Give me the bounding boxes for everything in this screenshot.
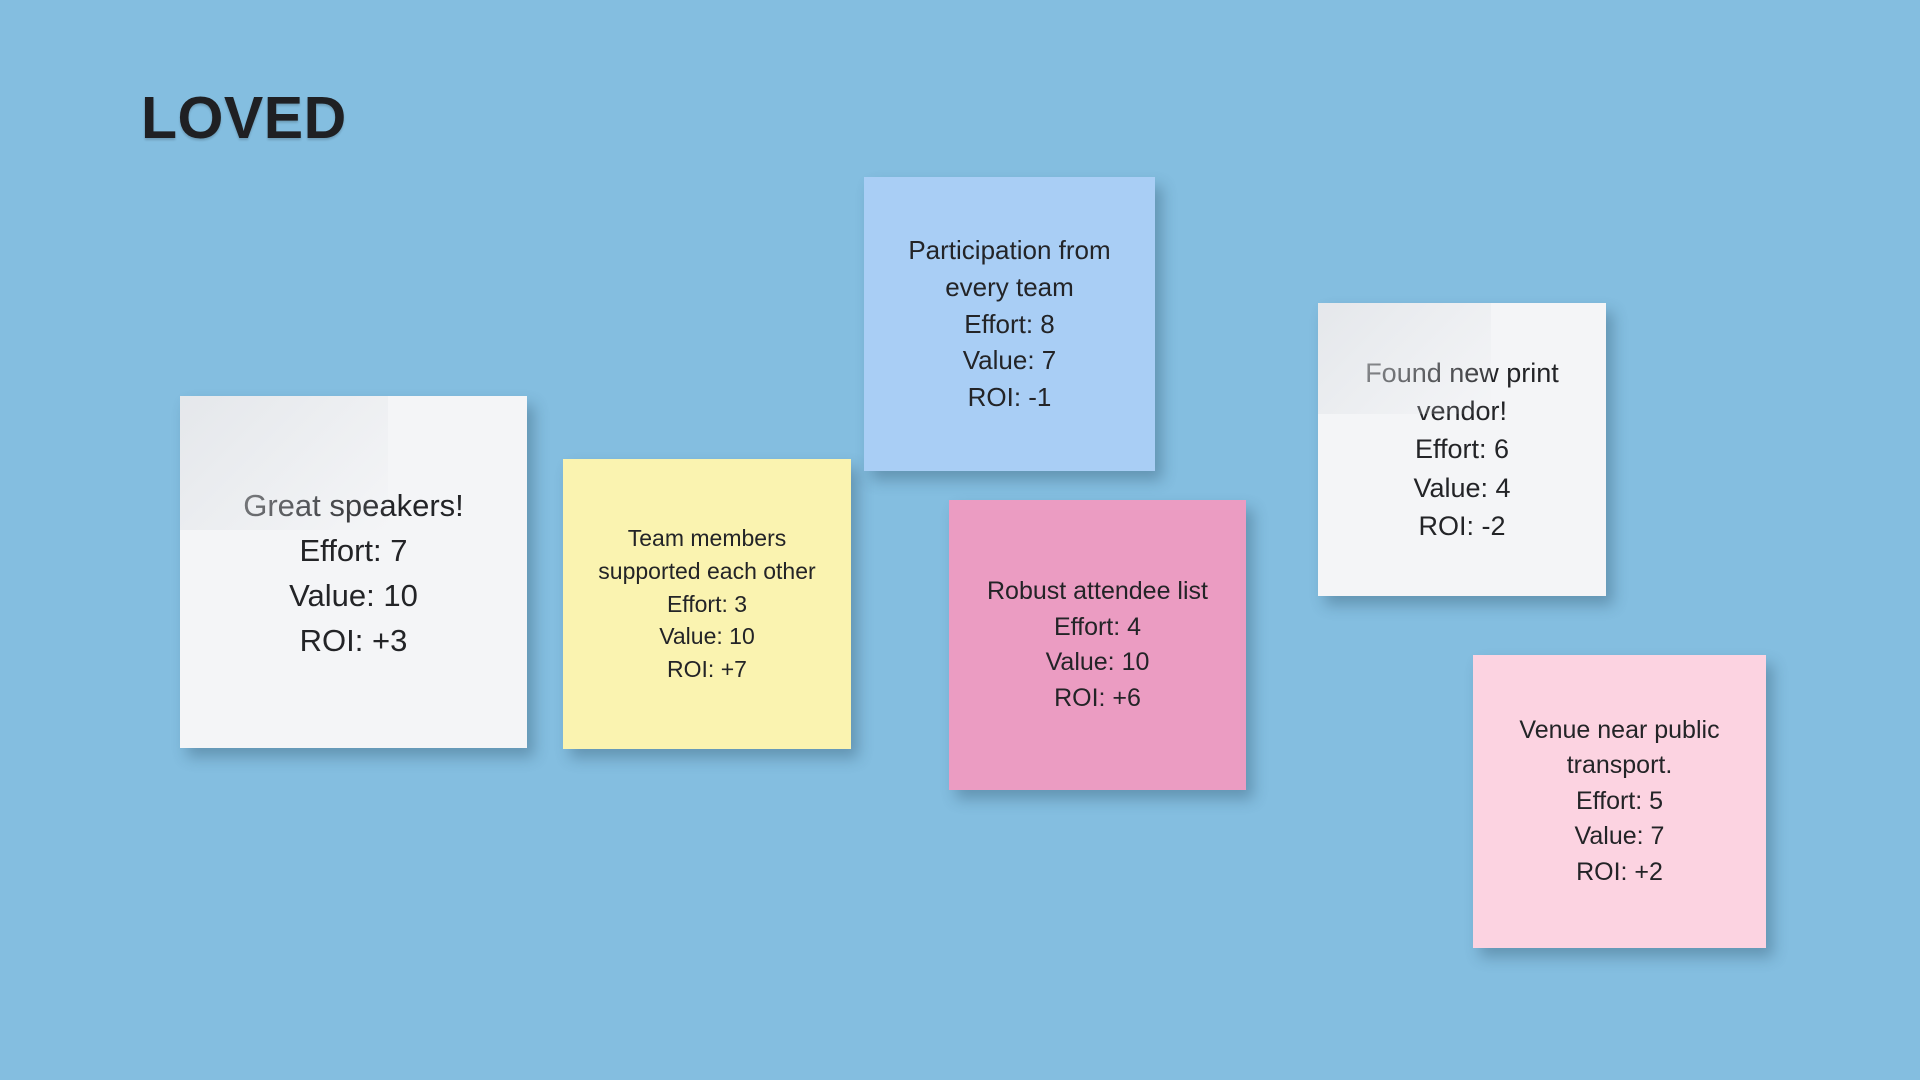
sticky-note-value: Value: 7 [876, 342, 1143, 379]
sticky-note-text: Found new print vendor! [1330, 354, 1594, 431]
sticky-note-venue-transport[interactable]: Venue near public transport. Effort: 5 V… [1473, 655, 1766, 948]
sticky-note-effort: Effort: 4 [961, 610, 1234, 646]
sticky-note-effort: Effort: 3 [575, 588, 839, 621]
sticky-note-value: Value: 7 [1485, 819, 1754, 855]
sticky-note-effort: Effort: 6 [1330, 430, 1594, 468]
sticky-note-roi: ROI: +7 [575, 653, 839, 686]
sticky-note-team-members[interactable]: Team members supported each other Effort… [563, 459, 851, 749]
sticky-note-effort: Effort: 7 [192, 528, 515, 573]
sticky-note-robust-attendee[interactable]: Robust attendee list Effort: 4 Value: 10… [949, 500, 1246, 790]
page-title: LOVED [141, 88, 347, 150]
sticky-note-value: Value: 10 [192, 573, 515, 618]
sticky-note-value: Value: 4 [1330, 469, 1594, 507]
sticky-note-participation[interactable]: Participation from every team Effort: 8 … [864, 177, 1155, 471]
sticky-note-roi: ROI: +3 [192, 618, 515, 663]
sticky-note-text: Robust attendee list [961, 574, 1234, 610]
sticky-note-text: Participation from every team [876, 232, 1143, 306]
sticky-note-roi: ROI: +6 [961, 681, 1234, 717]
sticky-note-roi: ROI: +2 [1485, 855, 1754, 891]
sticky-note-value: Value: 10 [575, 620, 839, 653]
sticky-note-effort: Effort: 5 [1485, 784, 1754, 820]
sticky-note-text: Team members supported each other [575, 522, 839, 587]
retrospective-board: LOVED Great speakers! Effort: 7 Value: 1… [0, 0, 1920, 1080]
sticky-note-great-speakers[interactable]: Great speakers! Effort: 7 Value: 10 ROI:… [180, 396, 527, 748]
sticky-note-value: Value: 10 [961, 645, 1234, 681]
sticky-note-effort: Effort: 8 [876, 306, 1143, 343]
sticky-note-text: Great speakers! [192, 483, 515, 528]
sticky-note-text: Venue near public transport. [1485, 713, 1754, 784]
sticky-note-roi: ROI: -1 [876, 379, 1143, 416]
sticky-note-print-vendor[interactable]: Found new print vendor! Effort: 6 Value:… [1318, 303, 1606, 596]
sticky-note-roi: ROI: -2 [1330, 507, 1594, 545]
